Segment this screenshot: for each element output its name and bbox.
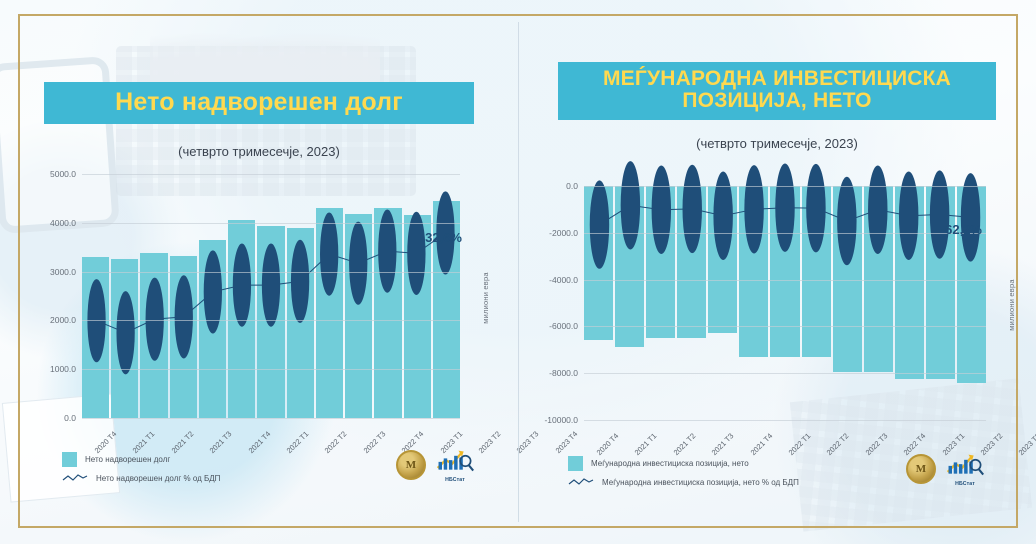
bar-swatch-icon <box>568 456 583 471</box>
line-marker <box>744 165 763 253</box>
line-marker <box>652 165 671 253</box>
line-marker <box>262 244 280 327</box>
infographic-stage: Нето надворешен долг (четврто тримесечје… <box>0 0 1036 544</box>
y-axis-tick: -8000.0 <box>549 368 578 378</box>
line-marker <box>233 244 251 327</box>
y-axis-tick: 0.0 <box>64 413 76 423</box>
y-axis-tick: -2000.0 <box>549 228 578 238</box>
national-bank-seal-icon: М <box>906 454 936 484</box>
panel-net-external-debt: Нето надворешен долг (четврто тримесечје… <box>0 0 518 544</box>
line-marker <box>837 177 856 265</box>
line-marker <box>146 278 164 361</box>
right-chart-subtitle: (четврто тримесечје, 2023) <box>518 136 1036 151</box>
gridline <box>82 174 460 175</box>
panel-net-iip: МЕЃУНАРОДНА ИНВЕСТИЦИСКА ПОЗИЦИЈА, НЕТО … <box>518 0 1036 544</box>
gridline <box>584 280 986 281</box>
line-marker <box>320 213 338 296</box>
y-axis-tick: 1000.0 <box>50 364 76 374</box>
line-marker <box>349 222 367 305</box>
left-chart: 0.01000.02000.03000.04000.05000.0 2020 T… <box>30 168 488 418</box>
legend-label-bar: Меѓународна инвестициска позиција, нето <box>591 459 749 468</box>
legend-item-bar: Нето надворешен долг <box>62 452 220 467</box>
legend-item-line: Нето надворешен долг % од БДП <box>62 473 220 483</box>
y-axis-tick: 3000.0 <box>50 267 76 277</box>
left-plot-area: 0.01000.02000.03000.04000.05000.0 <box>82 174 460 418</box>
bar-swatch-icon <box>62 452 77 467</box>
y-axis-tick: 4000.0 <box>50 218 76 228</box>
gridline <box>82 369 460 370</box>
gridline <box>584 233 986 234</box>
y-axis-tick: 2000.0 <box>50 315 76 325</box>
line-marker <box>291 240 309 323</box>
gridline <box>82 223 460 224</box>
legend-item-bar: Меѓународна инвестициска позиција, нето <box>568 456 799 471</box>
x-axis-tick: 2023 T3 <box>1017 425 1036 457</box>
right-chart-title: МЕЃУНАРОДНА ИНВЕСТИЦИСКА ПОЗИЦИЈА, НЕТО <box>558 62 996 120</box>
left-x-axis-labels: 2020 T42021 T12021 T22021 T32021 T42022 … <box>82 418 460 432</box>
gridline <box>584 326 986 327</box>
x-axis-tick: 2023 T2 <box>477 423 509 455</box>
legend-item-line: Меѓународна инвестициска позиција, нето … <box>568 477 799 487</box>
nbstat-logo-icon: НБСтат <box>942 452 988 486</box>
line-marker <box>930 170 949 258</box>
legend-label-line: Нето надворешен долг % од БДП <box>96 474 220 483</box>
left-chart-title: Нето надворешен долг <box>44 82 474 124</box>
line-marker <box>116 291 134 374</box>
nbstat-label: НБСтат <box>942 481 988 487</box>
line-marker <box>713 172 732 260</box>
right-x-axis-labels: 2020 T42021 T12021 T22021 T32021 T42022 … <box>584 420 986 434</box>
legend-label-bar: Нето надворешен долг <box>85 455 170 464</box>
line-marker <box>683 165 702 253</box>
gridline <box>584 373 986 374</box>
right-legend: Меѓународна инвестициска позиција, нето … <box>568 456 799 493</box>
line-marker <box>590 180 609 268</box>
right-logos: М НБСтат <box>906 452 988 486</box>
y-axis-tick: -10000.0 <box>544 415 578 425</box>
gridline <box>82 320 460 321</box>
line-swatch-icon <box>62 473 88 483</box>
legend-label-line: Меѓународна инвестициска позиција, нето … <box>602 478 799 487</box>
gridline <box>584 186 986 187</box>
nbstat-label: НБСтат <box>432 477 478 483</box>
line-swatch-icon <box>568 477 594 487</box>
left-logos: М НБСтат <box>396 448 478 482</box>
y-axis-tick: 5000.0 <box>50 169 76 179</box>
y-axis-tick: -6000.0 <box>549 321 578 331</box>
left-legend: Нето надворешен долг Нето надворешен дол… <box>62 452 220 489</box>
right-title-line-2: ПОЗИЦИЈА, НЕТО <box>564 90 990 112</box>
line-marker <box>407 212 425 295</box>
line-marker <box>899 172 918 260</box>
line-marker <box>806 164 825 252</box>
right-y-axis-unit: милиони евра <box>1007 279 1016 330</box>
nbstat-logo-icon: НБСтат <box>432 448 478 482</box>
line-marker <box>175 275 193 358</box>
left-y-axis-unit: милиони евра <box>481 272 490 323</box>
line-marker <box>775 163 794 251</box>
line-marker <box>868 165 887 253</box>
national-bank-seal-icon: М <box>396 450 426 480</box>
right-chart: 0.0-2000.0-4000.0-6000.0-8000.0-10000.0 … <box>532 180 1014 420</box>
right-title-line-1: МЕЃУНАРОДНА ИНВЕСТИЦИСКА <box>564 68 990 90</box>
right-end-value-label: -62,2% <box>941 222 982 237</box>
y-axis-tick: -4000.0 <box>549 275 578 285</box>
y-axis-tick: 0.0 <box>566 181 578 191</box>
left-chart-subtitle: (четврто тримесечје, 2023) <box>0 144 518 159</box>
right-plot-area: 0.0-2000.0-4000.0-6000.0-8000.0-10000.0 <box>584 186 986 420</box>
left-end-value-label: 32,6% <box>425 230 462 245</box>
gridline <box>82 272 460 273</box>
line-marker <box>621 161 640 249</box>
